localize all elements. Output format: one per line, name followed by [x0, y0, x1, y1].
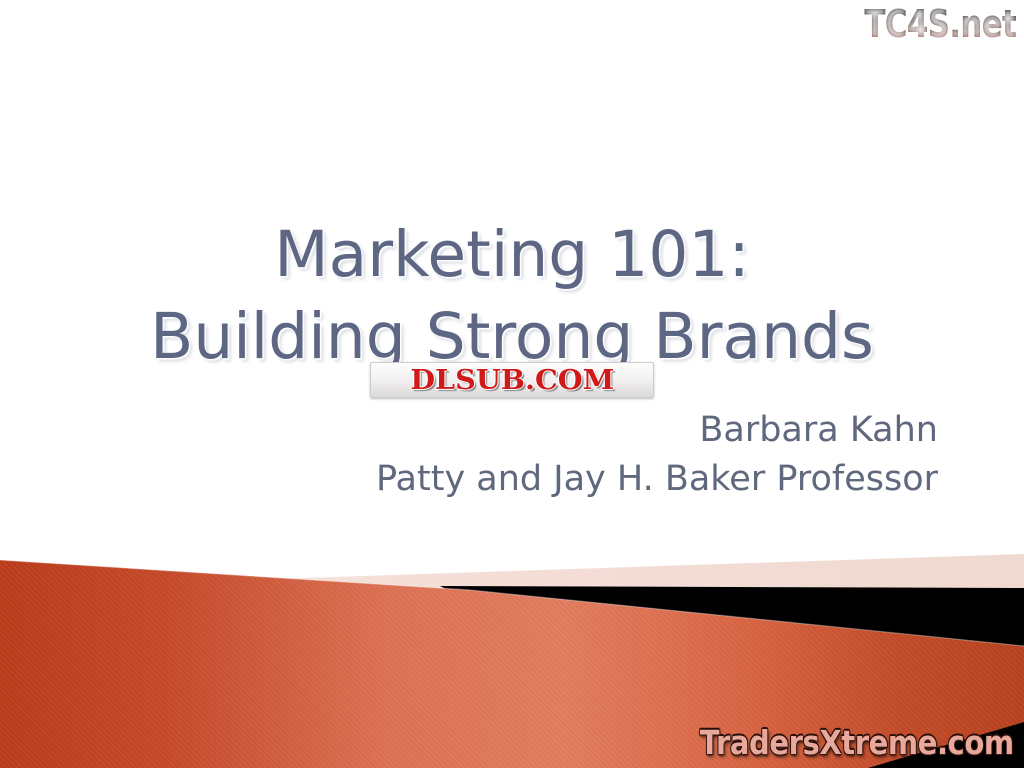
author-title: Patty and Jay H. Baker Professor [376, 455, 938, 504]
author-name: Barbara Kahn [376, 406, 938, 455]
presentation-slide: TC4S.net Marketing 101: Building Strong … [0, 0, 1024, 768]
tc4s-site-watermark: TC4S.net [864, 2, 1016, 46]
subtitle: Barbara Kahn Patty and Jay H. Baker Prof… [376, 406, 938, 504]
tradersxtreme-site-watermark: TradersXtreme.com [700, 724, 1014, 762]
page-title: Marketing 101: Building Strong Brands [0, 214, 1024, 378]
dlsub-site-watermark: DLSUB.COM [370, 362, 654, 398]
dlsub-watermark-label: DLSUB.COM [410, 367, 614, 394]
title-line-1: Marketing 101: [0, 214, 1024, 296]
